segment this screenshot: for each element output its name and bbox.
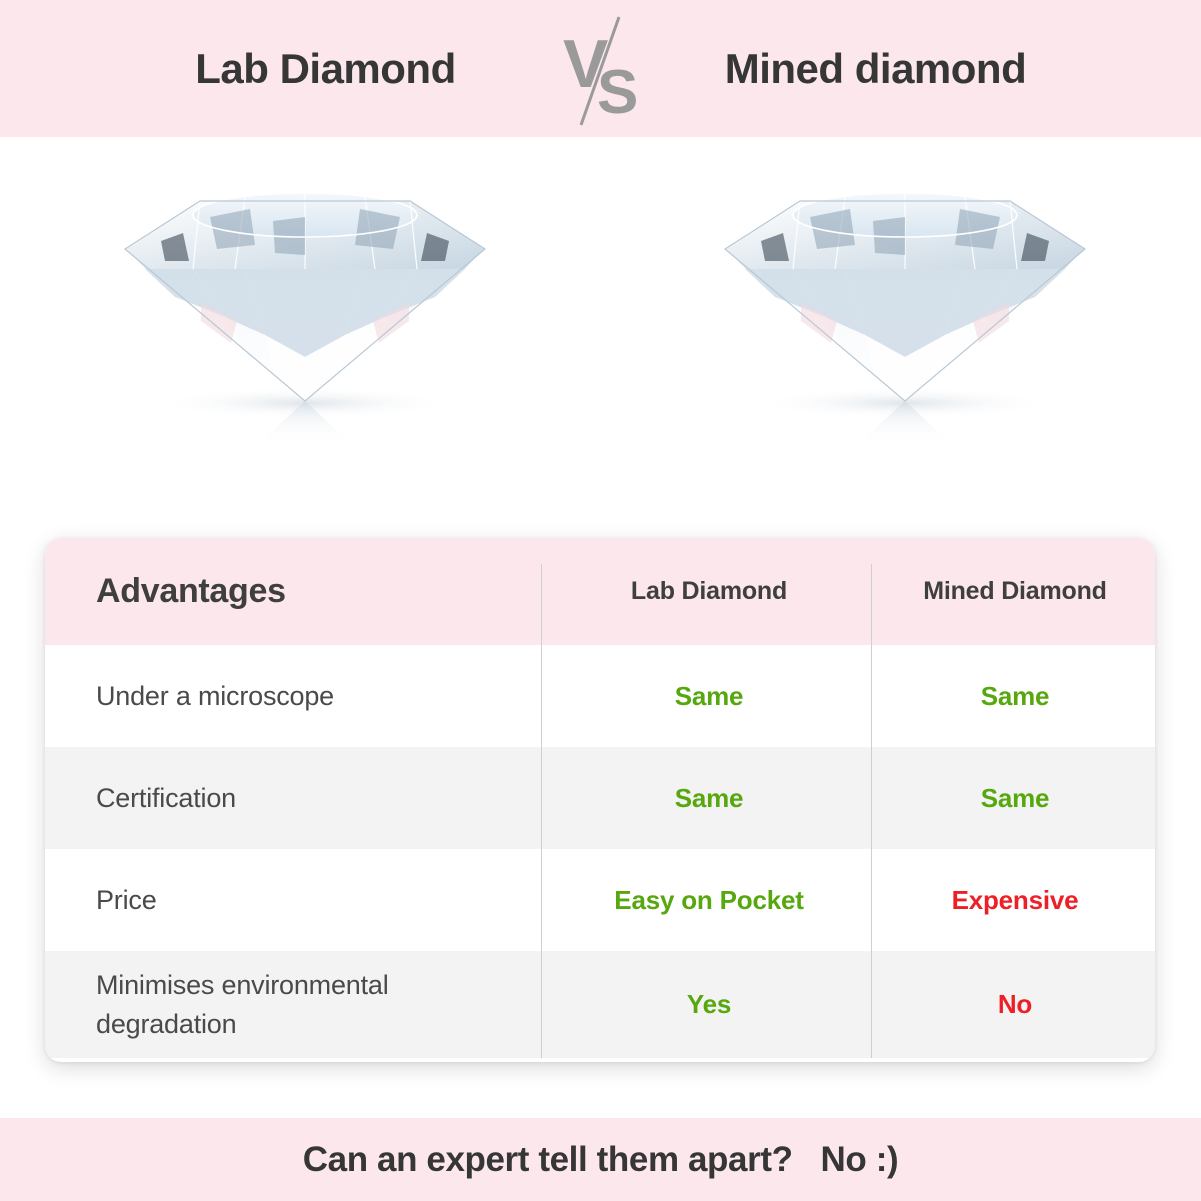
column-divider-2 <box>871 564 872 645</box>
mined-value: No <box>998 989 1032 1019</box>
cell-feature: Price <box>45 881 541 919</box>
vs-icon: V S <box>541 9 661 129</box>
diamond-image-mined <box>600 137 1200 537</box>
column-divider-1 <box>541 951 542 1058</box>
svg-text:S: S <box>597 58 638 127</box>
feature-label: Certification <box>96 783 236 813</box>
cell-feature: Under a microscope <box>45 677 541 715</box>
mined-value: Same <box>981 783 1050 813</box>
header-cell-advantages: Advantages <box>45 572 541 611</box>
comparison-table: Advantages Lab Diamond Mined Diamond Und… <box>45 538 1155 1062</box>
cell-lab-value: Yes <box>541 989 871 1020</box>
column-divider-1 <box>541 645 542 747</box>
footer-band: Can an expert tell them apart? No :) <box>0 1118 1201 1201</box>
lab-value: Same <box>675 783 744 813</box>
lab-value: Same <box>675 681 744 711</box>
infographic-page: Lab Diamond V S Mined diamond <box>0 0 1201 1201</box>
header-title-mined: Mined diamond <box>661 45 1091 93</box>
diamond-image-lab <box>0 137 600 537</box>
diamond-image-row <box>0 137 1201 537</box>
column-divider-1 <box>541 747 542 849</box>
lab-value: Yes <box>687 989 731 1019</box>
header-label-mined: Mined Diamond <box>923 577 1107 605</box>
table-row: Price Easy on Pocket Expensive <box>45 849 1155 951</box>
diamond-icon-mined <box>705 157 1105 447</box>
footer-question: Can an expert tell them apart? No :) <box>303 1140 898 1180</box>
cell-feature: Minimises environmental degradation <box>45 966 541 1043</box>
cell-lab-value: Same <box>541 783 871 814</box>
column-divider-2 <box>871 951 872 1058</box>
table-row: Under a microscope Same Same <box>45 645 1155 747</box>
column-divider-1 <box>541 564 542 645</box>
table-header-row: Advantages Lab Diamond Mined Diamond <box>45 538 1155 645</box>
cell-feature: Certification <box>45 779 541 817</box>
cell-mined-value: No <box>871 989 1155 1020</box>
header-title-lab: Lab Diamond <box>111 45 541 93</box>
header-label-advantages: Advantages <box>96 572 286 610</box>
header-cell-lab: Lab Diamond <box>541 577 871 606</box>
column-divider-1 <box>541 849 542 951</box>
header-band: Lab Diamond V S Mined diamond <box>0 0 1201 137</box>
cell-mined-value: Same <box>871 783 1155 814</box>
feature-label: Minimises environmental degradation <box>96 970 389 1038</box>
column-divider-2 <box>871 645 872 747</box>
header-cell-mined: Mined Diamond <box>871 577 1155 606</box>
feature-label: Under a microscope <box>96 681 334 711</box>
cell-lab-value: Easy on Pocket <box>541 885 871 916</box>
versus-badge: V S <box>541 9 661 129</box>
column-divider-2 <box>871 849 872 951</box>
cell-lab-value: Same <box>541 681 871 712</box>
table-row: Certification Same Same <box>45 747 1155 849</box>
cell-mined-value: Same <box>871 681 1155 712</box>
column-divider-2 <box>871 747 872 849</box>
mined-value: Same <box>981 681 1050 711</box>
lab-value: Easy on Pocket <box>614 885 803 915</box>
feature-label: Price <box>96 885 157 915</box>
cell-mined-value: Expensive <box>871 885 1155 916</box>
table-row: Minimises environmental degradation Yes … <box>45 951 1155 1058</box>
mined-value: Expensive <box>952 885 1079 915</box>
diamond-icon-lab <box>105 157 505 447</box>
header-label-lab: Lab Diamond <box>631 577 787 605</box>
